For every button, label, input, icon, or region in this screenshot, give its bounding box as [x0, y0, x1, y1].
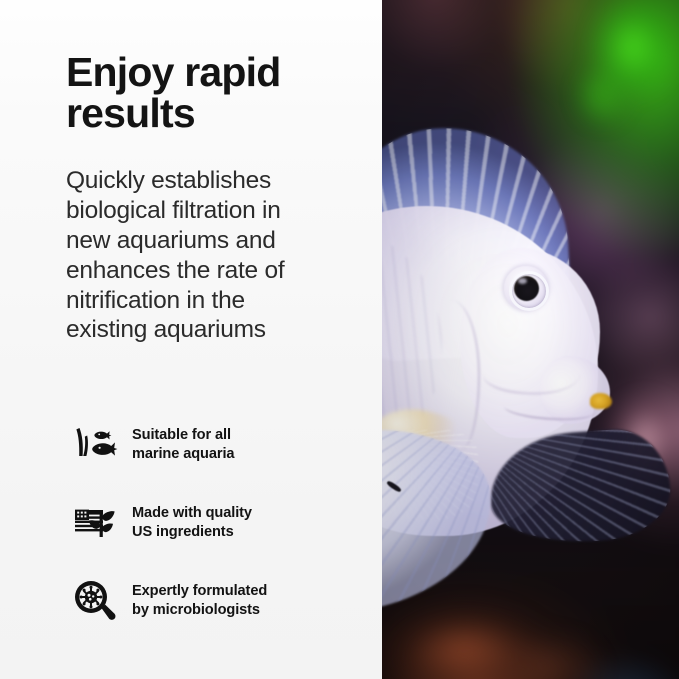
page-title: Enjoy rapid results	[66, 52, 356, 133]
feature-list: Suitable for all marine aquaria	[66, 416, 366, 630]
feature-label: Suitable for all marine aquaria	[132, 426, 234, 465]
product-description: Quickly establishes biological filtratio…	[66, 166, 318, 345]
feature-item-us-ingredients: Made with quality US ingredients	[66, 494, 366, 552]
product-feature-card: Enjoy rapid results Quickly establishes …	[0, 0, 679, 679]
fish-eye-glint	[518, 278, 527, 284]
feature-label: Expertly formulated by microbiologists	[132, 582, 267, 621]
fish-and-seaweed-icon	[66, 416, 124, 474]
product-photo	[382, 0, 679, 679]
feature-item-microbiologists: Expertly formulated by microbiologists	[66, 572, 366, 630]
copy-panel: Enjoy rapid results Quickly establishes …	[0, 0, 382, 679]
magnifier-microbe-icon	[66, 572, 124, 630]
us-flag-and-plant-icon	[66, 494, 124, 552]
fish-anal-fin-rays	[382, 419, 499, 620]
tang-fish	[382, 0, 638, 679]
feature-item-marine-aquaria: Suitable for all marine aquaria	[66, 416, 366, 474]
photo-stage	[382, 0, 679, 679]
copy-inner: Enjoy rapid results Quickly establishes …	[66, 0, 366, 679]
fish-dark-chest-fin-rays	[486, 426, 673, 548]
feature-label: Made with quality US ingredients	[132, 504, 252, 543]
